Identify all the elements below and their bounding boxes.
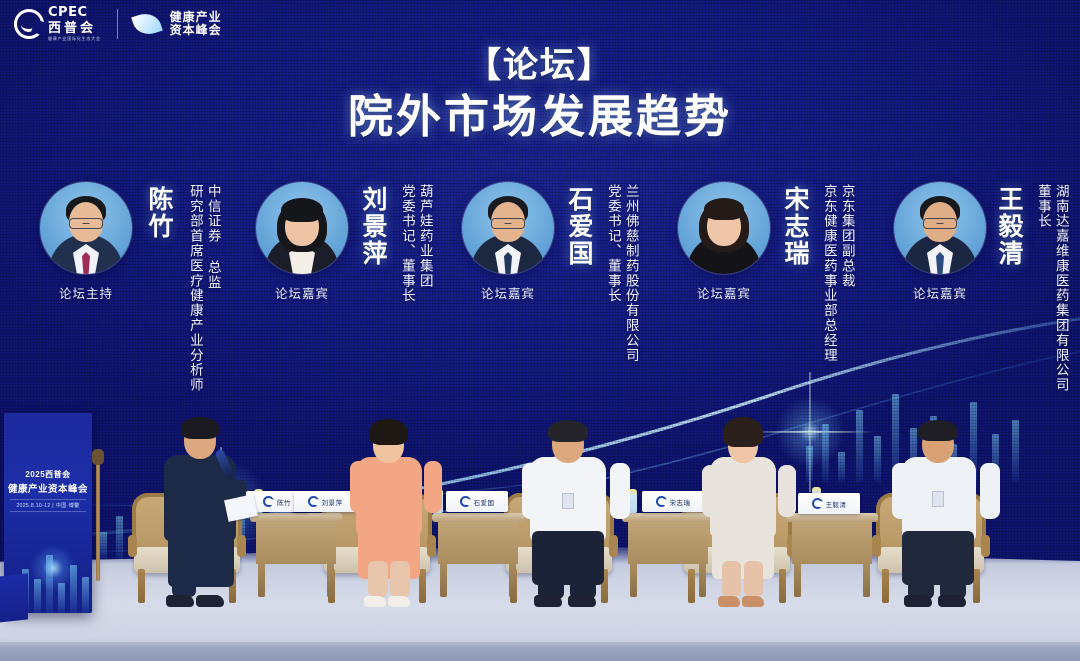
cpec-logo: CPEC 西普会 健康产业国际化生态大会 bbox=[14, 6, 101, 41]
speaker-1-title-col-2: 研究部首席医疗健康产业分析师 bbox=[186, 184, 203, 393]
stage-backdrop: CPEC 西普会 健康产业国际化生态大会 健康产业 资本峰会 【论坛】 院外市场… bbox=[0, 0, 1080, 661]
speaker-1-name: 陈竹 bbox=[146, 186, 172, 240]
nameplate-5: 王毅清 bbox=[798, 493, 860, 514]
speaker-1-title-col-1: 中信证券 总监 bbox=[204, 184, 221, 290]
speaker-5-title-col-1: 湖南达嘉维康医药集团有限公司 bbox=[1052, 184, 1069, 393]
speaker-1-avatar bbox=[40, 182, 132, 274]
nameplate-logo-icon bbox=[460, 496, 471, 507]
nameplate-3-text: 石爱国 bbox=[474, 497, 495, 507]
speaker-3-titles: 兰州佛慈制药股份有限公司 党委书记、董事长 bbox=[604, 184, 639, 363]
cpec-ring-icon bbox=[14, 9, 44, 39]
nameplate-2-text: 刘景萍 bbox=[322, 497, 343, 507]
nameplate-5-text: 王毅清 bbox=[826, 499, 847, 509]
panelist-seated-2 bbox=[342, 410, 452, 605]
speaker-4-title-col-2: 京东健康医药事业部总经理 bbox=[820, 184, 837, 363]
speaker-1-titles: 中信证券 总监 研究部首席医疗健康产业分析师 bbox=[186, 184, 221, 393]
speaker-5-name: 王毅清 bbox=[996, 186, 1022, 267]
speaker-2-title-col-2: 党委书记、董事长 bbox=[398, 184, 415, 303]
nameplate-logo-icon bbox=[656, 496, 667, 507]
title-line-2: 院外市场发展趋势 bbox=[0, 90, 1080, 144]
panel-seating-area: 陈竹 刘景萍 石爱国 宋志瑞 bbox=[0, 408, 1080, 623]
cpec-logo-en: CPEC bbox=[48, 6, 101, 19]
forum-title: 【论坛】 院外市场发展趋势 bbox=[0, 44, 1080, 144]
speaker-card-2: 论坛嘉宾 刘景萍 葫芦娃药业集团 党委书记、董事长 bbox=[250, 182, 440, 412]
nameplate-4-text: 宋志瑞 bbox=[670, 497, 691, 507]
speaker-3-name: 石爱国 bbox=[566, 186, 592, 267]
speaker-1-photo-col: 论坛主持 bbox=[34, 182, 138, 302]
lectern bbox=[0, 573, 28, 622]
summit-logo: 健康产业 资本峰会 bbox=[170, 11, 222, 38]
speaker-card-5: 论坛嘉宾 王毅清 湖南达嘉维康医药集团有限公司 董事长 bbox=[888, 182, 1080, 412]
header-logo-bar: CPEC 西普会 健康产业国际化生态大会 健康产业 资本峰会 bbox=[14, 4, 222, 44]
leaf-icon bbox=[134, 13, 160, 35]
panelist-seated-1 bbox=[150, 410, 270, 605]
speaker-4-titles: 京东集团副总裁 京东健康医药事业部总经理 bbox=[820, 184, 855, 363]
speaker-2-photo-col: 论坛嘉宾 bbox=[250, 182, 354, 302]
panelist-seated-5 bbox=[888, 410, 1008, 605]
panelist-seated-3 bbox=[518, 410, 638, 605]
speaker-2-avatar bbox=[256, 182, 348, 274]
nameplate-logo-icon bbox=[812, 498, 823, 509]
speaker-card-4: 论坛嘉宾 宋志瑞 京东集团副总裁 京东健康医药事业部总经理 bbox=[672, 182, 872, 412]
speaker-card-1: 论坛主持 陈竹 中信证券 总监 研究部首席医疗健康产业分析师 bbox=[34, 182, 234, 412]
speaker-2-name: 刘景萍 bbox=[360, 186, 386, 267]
microphone-head-icon bbox=[92, 449, 104, 465]
speaker-4-name: 宋志瑞 bbox=[782, 186, 808, 267]
speaker-4-photo-col: 论坛嘉宾 bbox=[672, 182, 776, 302]
speaker-panel-row: 论坛主持 陈竹 中信证券 总监 研究部首席医疗健康产业分析师 论坛嘉宾 刘景萍 bbox=[0, 182, 1080, 412]
speaker-3-photo-col: 论坛嘉宾 bbox=[456, 182, 560, 302]
summit-logo-line2: 资本峰会 bbox=[170, 24, 222, 37]
cpec-logo-sub: 健康产业国际化生态大会 bbox=[48, 37, 101, 41]
banner-date: 2025.8.10-12 | 中国·博鳌 bbox=[10, 499, 86, 512]
summit-logo-line1: 健康产业 bbox=[170, 11, 222, 24]
speaker-2-title-col-1: 葫芦娃药业集团 bbox=[416, 184, 433, 288]
logo-divider bbox=[117, 9, 118, 39]
paper-notes bbox=[224, 494, 258, 522]
speaker-5-avatar bbox=[894, 182, 986, 274]
banner-line-1: 2025西普会 bbox=[4, 469, 92, 480]
nameplate-logo-icon bbox=[308, 496, 319, 507]
speaker-4-role: 论坛嘉宾 bbox=[672, 283, 776, 302]
nameplate-3: 石爱国 bbox=[446, 491, 508, 512]
speaker-5-titles: 湖南达嘉维康医药集团有限公司 董事长 bbox=[1034, 184, 1069, 393]
speaker-2-titles: 葫芦娃药业集团 党委书记、董事长 bbox=[398, 184, 433, 303]
speaker-5-role: 论坛嘉宾 bbox=[888, 283, 992, 302]
lanyard-badge bbox=[932, 491, 944, 507]
speaker-1-role: 论坛主持 bbox=[34, 283, 138, 302]
lanyard-badge bbox=[562, 493, 574, 509]
speaker-3-title-col-1: 兰州佛慈制药股份有限公司 bbox=[622, 184, 639, 363]
speaker-2-role: 论坛嘉宾 bbox=[250, 283, 354, 302]
speaker-4-avatar bbox=[678, 182, 770, 274]
speaker-5-title-col-2: 董事长 bbox=[1034, 184, 1051, 229]
panelist-seated-4 bbox=[696, 410, 806, 605]
cpec-logo-cn: 西普会 bbox=[48, 21, 101, 34]
speaker-3-avatar bbox=[462, 182, 554, 274]
microphone-stand bbox=[96, 461, 100, 581]
speaker-3-title-col-2: 党委书记、董事长 bbox=[604, 184, 621, 303]
speaker-card-3: 论坛嘉宾 石爱国 兰州佛慈制药股份有限公司 党委书记、董事长 bbox=[456, 182, 656, 412]
nameplate-1-text: 陈竹 bbox=[277, 497, 291, 507]
speaker-3-role: 论坛嘉宾 bbox=[456, 283, 560, 302]
speaker-4-title-col-1: 京东集团副总裁 bbox=[838, 184, 855, 288]
speaker-5-photo-col: 论坛嘉宾 bbox=[888, 182, 992, 302]
nameplate-4: 宋志瑞 bbox=[642, 491, 704, 512]
banner-line-2: 健康产业资本峰会 bbox=[4, 481, 92, 495]
title-line-1: 【论坛】 bbox=[0, 44, 1080, 88]
